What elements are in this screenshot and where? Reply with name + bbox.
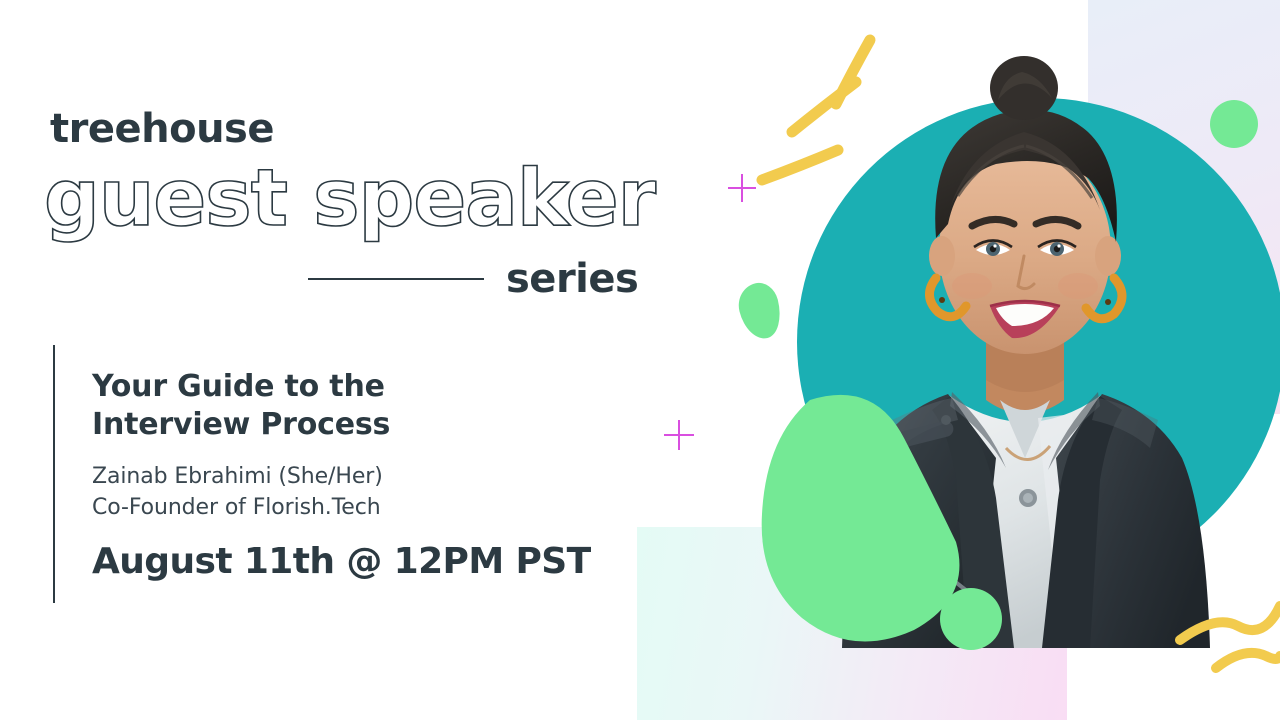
green-blob-small [734,279,786,343]
series-rule [308,278,484,280]
promo-slide: treehouse guest speaker series Your Guid… [0,0,1280,720]
speaker-info: Zainab Ebrahimi (She/Her) Co-Founder of … [92,461,612,523]
speaker-role: Co-Founder of Florish.Tech [92,492,612,523]
plus-icon-bottom [664,420,694,450]
green-blob-large [756,392,962,644]
blob-shape [756,392,962,644]
vertical-divider [53,345,55,603]
green-dot [940,588,1002,650]
talk-title: Your Guide to the Interview Process [92,368,612,445]
treehouse-wordmark: treehouse [50,106,274,152]
talk-title-line-2: Interview Process [92,406,612,444]
green-dot-top-right [1210,100,1258,148]
speaker-name: Zainab Ebrahimi (She/Her) [92,461,612,492]
headline-outline: guest speaker [44,160,655,238]
series-row: series [308,256,638,302]
event-datetime: August 11th @ 12PM PST [92,541,612,582]
plus-icon-top [728,174,756,202]
event-info-block: Your Guide to the Interview Process Zain… [92,368,612,582]
series-label: series [506,256,638,302]
talk-title-line-1: Your Guide to the [92,368,612,406]
